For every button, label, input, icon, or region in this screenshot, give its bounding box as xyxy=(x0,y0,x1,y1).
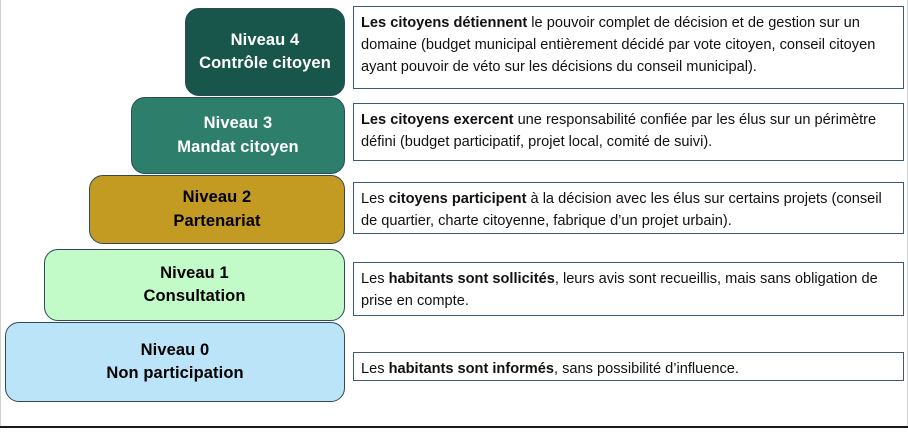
canvas-bottom-rule xyxy=(0,426,908,428)
pyramid-block-level-1[interactable]: Niveau 1 Consultation xyxy=(44,249,345,321)
pyramid-block-level-0[interactable]: Niveau 0 Non participation xyxy=(5,322,345,402)
description-box-level-1: Les habitants sont sollicités, leurs avi… xyxy=(353,262,904,316)
level-2-subtitle: Partenariat xyxy=(173,210,260,233)
level-4-description-lead: Les citoyens détiennent xyxy=(361,15,527,31)
level-4-subtitle: Contrôle citoyen xyxy=(199,52,331,75)
description-box-level-0: Les habitants sont informés, sans possib… xyxy=(353,352,904,381)
level-2-title: Niveau 2 xyxy=(183,186,252,209)
level-3-subtitle: Mandat citoyen xyxy=(177,136,299,159)
description-box-level-3: Les citoyens exercent une responsabilité… xyxy=(353,103,904,161)
level-0-subtitle: Non participation xyxy=(106,362,243,385)
description-box-level-4: Les citoyens détiennent le pouvoir compl… xyxy=(353,6,904,89)
level-1-description-lead: habitants sont sollicités xyxy=(389,271,555,287)
pyramid-block-level-2[interactable]: Niveau 2 Partenariat xyxy=(89,175,345,244)
level-3-description-lead: Les citoyens exercent xyxy=(361,112,514,128)
level-0-description-lead: habitants sont informés xyxy=(389,361,554,377)
pyramid-block-level-4[interactable]: Niveau 4 Contrôle citoyen xyxy=(185,8,345,96)
level-0-description-pre: Les xyxy=(361,361,389,377)
level-0-description-rest: , sans possibilité d’influence. xyxy=(554,361,739,377)
level-2-description-pre: Les xyxy=(361,191,389,207)
level-2-description-lead: citoyens participent xyxy=(389,191,527,207)
description-box-level-2: Les citoyens participent à la décision a… xyxy=(353,182,904,234)
diagram-canvas: Niveau 4 Contrôle citoyen Les citoyens d… xyxy=(0,0,908,434)
canvas-left-rule xyxy=(0,0,1,427)
pyramid-block-level-3[interactable]: Niveau 3 Mandat citoyen xyxy=(131,97,345,174)
level-1-subtitle: Consultation xyxy=(143,285,245,308)
level-4-title: Niveau 4 xyxy=(231,29,300,52)
level-1-title: Niveau 1 xyxy=(160,262,229,285)
level-1-description-pre: Les xyxy=(361,271,389,287)
level-0-title: Niveau 0 xyxy=(141,339,210,362)
level-3-title: Niveau 3 xyxy=(204,112,273,135)
